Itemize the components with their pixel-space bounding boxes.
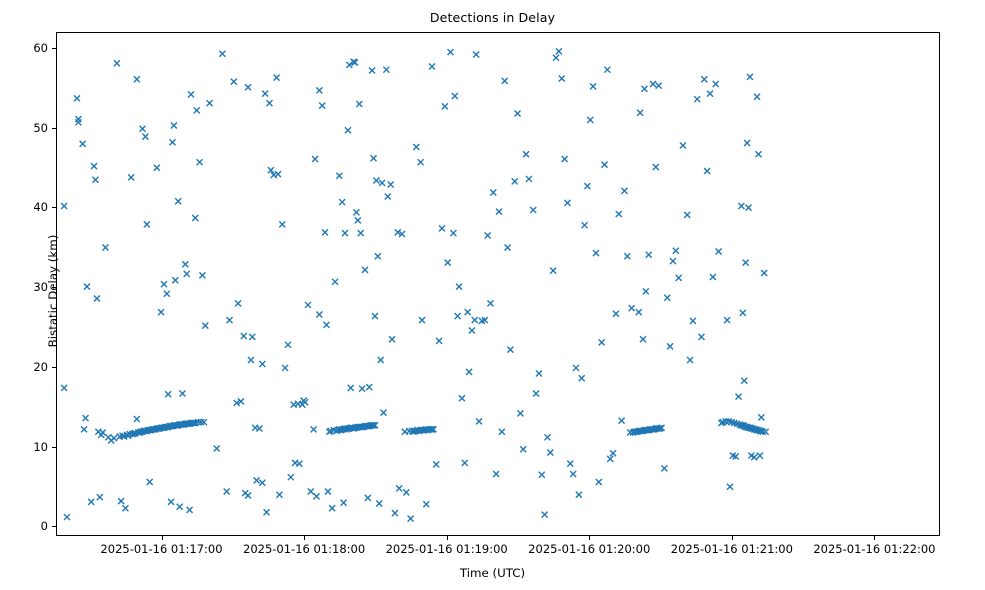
y-tick-label: 50 <box>0 121 48 135</box>
y-tick-mark <box>52 48 56 49</box>
y-tick-label: 10 <box>0 440 48 454</box>
x-tick-label: 2025-01-16 01:17:00 <box>100 542 222 556</box>
x-tick-label: 2025-01-16 01:18:00 <box>243 542 365 556</box>
y-tick-mark <box>52 526 56 527</box>
x-tick-mark <box>304 536 305 540</box>
y-tick-label: 30 <box>0 280 48 294</box>
x-tick-mark <box>589 536 590 540</box>
x-tick-label: 2025-01-16 01:22:00 <box>813 542 935 556</box>
x-tick-mark <box>162 536 163 540</box>
y-tick-label: 40 <box>0 200 48 214</box>
x-tick-mark <box>874 536 875 540</box>
y-tick-mark <box>52 447 56 448</box>
x-tick-label: 2025-01-16 01:21:00 <box>671 542 793 556</box>
x-tick-mark <box>732 536 733 540</box>
x-tick-label: 2025-01-16 01:20:00 <box>528 542 650 556</box>
page-title: Detections in Delay <box>0 10 985 25</box>
y-tick-label: 20 <box>0 360 48 374</box>
y-axis-label: Bistatic Delay (km) <box>46 191 60 391</box>
y-tick-mark <box>52 128 56 129</box>
x-axis-label: Time (UTC) <box>0 566 985 580</box>
x-tick-label: 2025-01-16 01:19:00 <box>386 542 508 556</box>
plot-axes <box>56 32 940 536</box>
y-tick-label: 0 <box>0 519 48 533</box>
scatter-marker-group <box>61 48 768 521</box>
y-tick-label: 60 <box>0 41 48 55</box>
matplotlib-figure: Detections in Delay 0102030405060 2025-0… <box>0 0 985 590</box>
scatter-plot-canvas <box>57 33 941 537</box>
x-tick-mark <box>447 536 448 540</box>
